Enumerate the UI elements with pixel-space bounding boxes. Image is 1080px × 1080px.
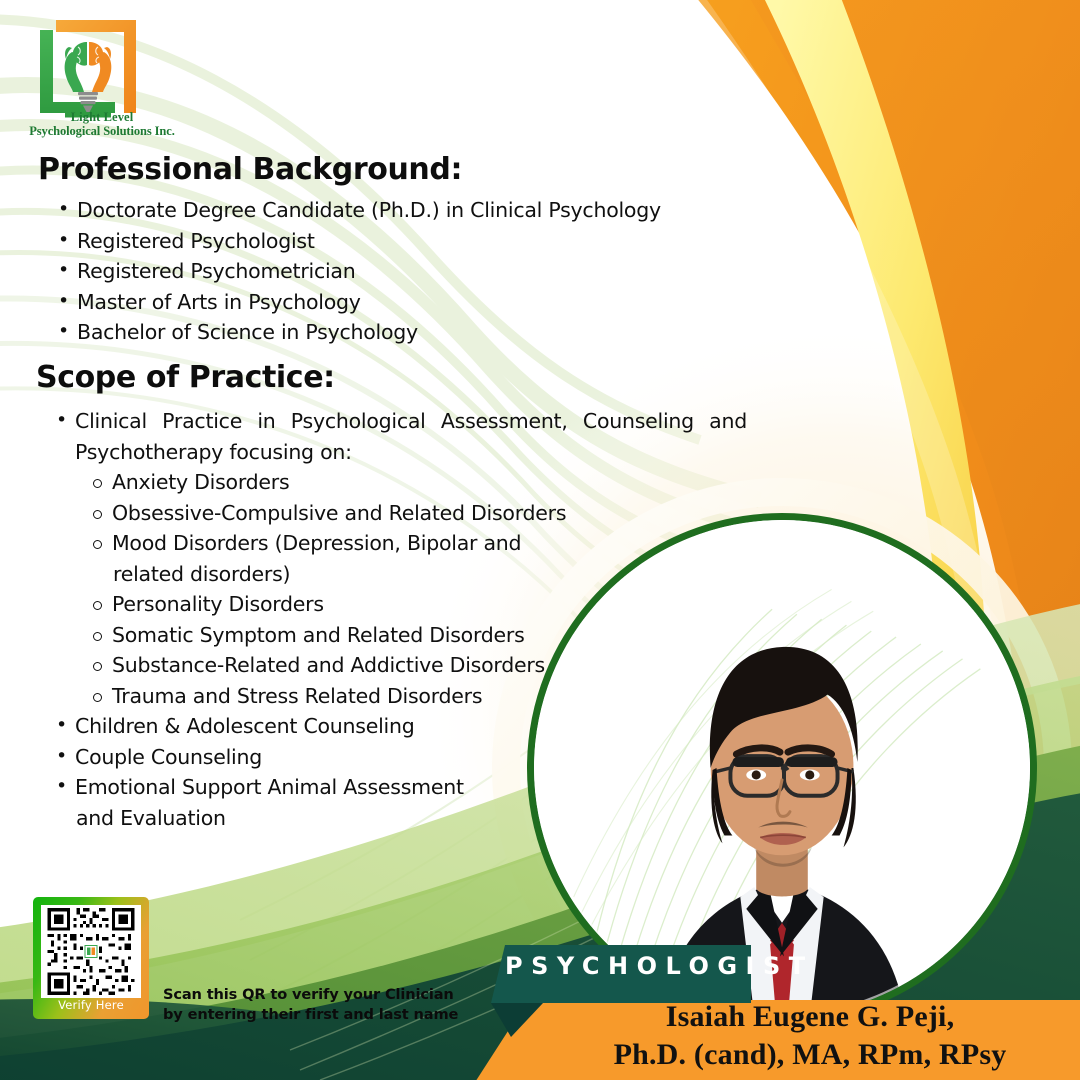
list-item: Doctorate Degree Candidate (Ph.D.) in Cl… [47,195,661,226]
section-heading-scope-of-practice: Scope of Practice: [36,360,335,395]
brand-logo: Light Level Psychological Solutions Inc. [20,14,180,140]
list-item-line: Psychotherapy focusing on: [75,440,352,464]
list-item-clinical-practice: Clinical Practice in Psychological Asses… [45,406,745,711]
qr-verification-card[interactable]: Verify Here [33,897,149,1019]
poster-canvas: Light Level Psychological Solutions Inc.… [0,0,1080,1080]
logo-wordmark: Light Level Psychological Solutions Inc. [12,111,192,138]
sublist-item: Mood Disorders (Depression, Bipolar and … [80,528,745,589]
sublist-item-line: related disorders) [112,559,745,590]
qr-instruction-text: Scan this QR to verify your Clinician by… [163,985,458,1025]
scope-of-practice-list: Clinical Practice in Psychological Asses… [45,406,745,833]
sublist-item: Obsessive-Compulsive and Related Disorde… [80,498,745,529]
list-item: Couple Counseling [45,742,745,773]
list-item-line: and Evaluation [75,803,745,834]
section-heading-professional-background: Professional Background: [38,152,462,187]
list-item: Registered Psychologist [47,226,661,257]
disorder-sublist: Anxiety Disorders Obsessive-Compulsive a… [80,467,745,711]
list-item-line: Emotional Support Animal Assessment [75,775,464,799]
list-item: Children & Adolescent Counseling [45,711,745,742]
clinician-name-line-1: Isaiah Eugene G. Peji, [666,1000,955,1033]
list-item-line: Clinical Practice in Psychological Asses… [75,406,747,437]
logo-line-1: Light Level [12,111,192,125]
sublist-item-line: Mood Disorders (Depression, Bipolar and [112,531,521,555]
sublist-item: Trauma and Stress Related Disorders [80,681,745,712]
sublist-item: Anxiety Disorders [80,467,745,498]
qr-instruction-line-2: by entering their first and last name [163,1006,458,1023]
role-label: PSYCHOLOGIST [505,952,814,980]
list-item: Registered Psychometrician [47,256,661,287]
sublist-item: Somatic Symptom and Related Disorders [80,620,745,651]
professional-background-list: Doctorate Degree Candidate (Ph.D.) in Cl… [47,195,661,348]
qr-code-image[interactable] [41,905,141,998]
list-item: Master of Arts in Psychology [47,287,661,318]
qr-instruction-line-1: Scan this QR to verify your Clinician [163,986,454,1003]
sublist-item: Personality Disorders [80,589,745,620]
logo-line-2: Psychological Solutions Inc. [12,125,192,139]
sublist-item: Substance-Related and Addictive Disorder… [80,650,745,681]
list-item: Bachelor of Science in Psychology [47,317,661,348]
clinician-credentials: Ph.D. (cand), MA, RPm, RPsy [614,1038,1007,1071]
qr-caption: Verify Here [33,998,149,1012]
list-item: Emotional Support Animal Assessment and … [45,772,745,833]
clinician-name: Isaiah Eugene G. Peji, Ph.D. (cand), MA,… [540,998,1080,1074]
